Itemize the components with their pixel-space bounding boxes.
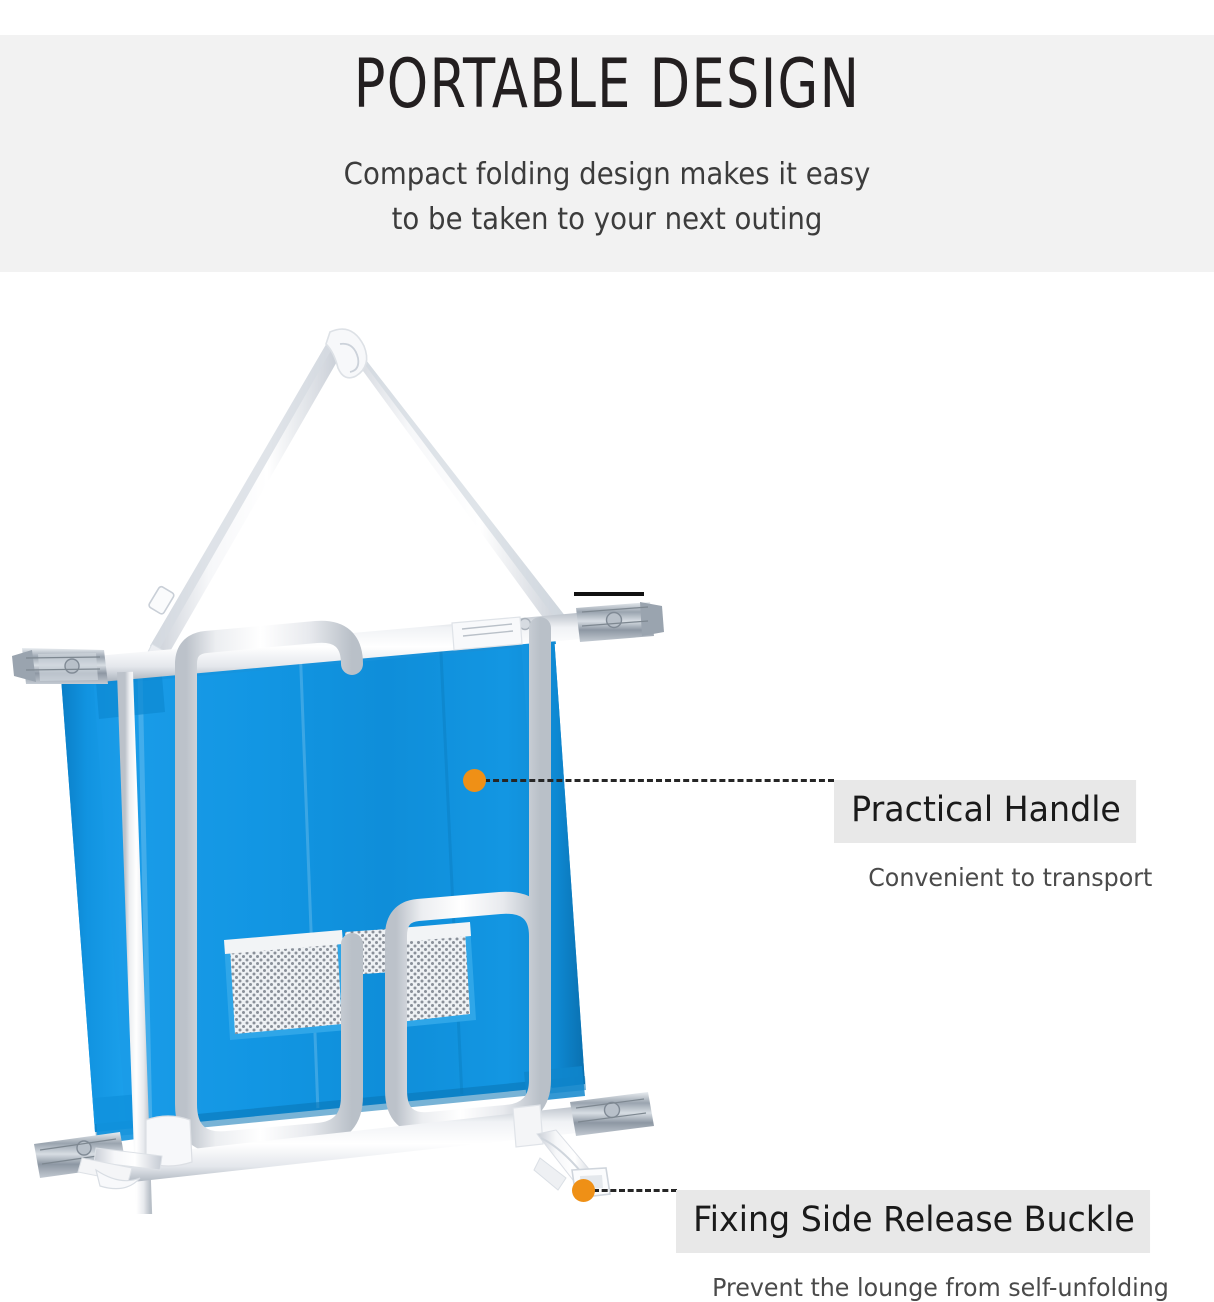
callout-practical-handle-subtitle: Convenient to transport <box>834 843 1152 890</box>
product-stage: Practical Handle Convenient to transport… <box>0 272 1214 1214</box>
mesh-storage-pocket-left <box>224 930 348 1040</box>
callout-fixing-side-release-buckle-title: Fixing Side Release Buckle <box>676 1190 1150 1253</box>
product-illustration-folded-beach-lounge-chair <box>0 272 1214 1214</box>
metal-hinge-bottom-right <box>570 1092 654 1136</box>
page-subtitle-line-1: Compact folding design makes it easy <box>49 152 1166 197</box>
metal-hinge-top-left <box>12 648 108 684</box>
callout-practical-handle-title: Practical Handle <box>834 780 1136 843</box>
leader-line-practical-handle <box>484 779 834 782</box>
page-subtitle-line-2: to be taken to your next outing <box>49 197 1166 242</box>
metal-hinge-top-right <box>576 602 664 642</box>
page-subtitle: Compact folding design makes it easy to … <box>49 152 1166 242</box>
page-title: PORTABLE DESIGN <box>85 48 1129 122</box>
callout-fixing-side-release-buckle-subtitle: Prevent the lounge from self-unfolding <box>676 1253 1169 1300</box>
leader-line-fixing-side-release-buckle <box>593 1189 677 1192</box>
callout-practical-handle: Practical Handle Convenient to transport <box>834 780 1169 890</box>
callout-dot-fixing-side-release-buckle[interactable] <box>572 1179 595 1202</box>
callout-fixing-side-release-buckle: Fixing Side Release Buckle Prevent the l… <box>676 1190 1195 1300</box>
callout-dot-practical-handle[interactable] <box>463 769 486 792</box>
